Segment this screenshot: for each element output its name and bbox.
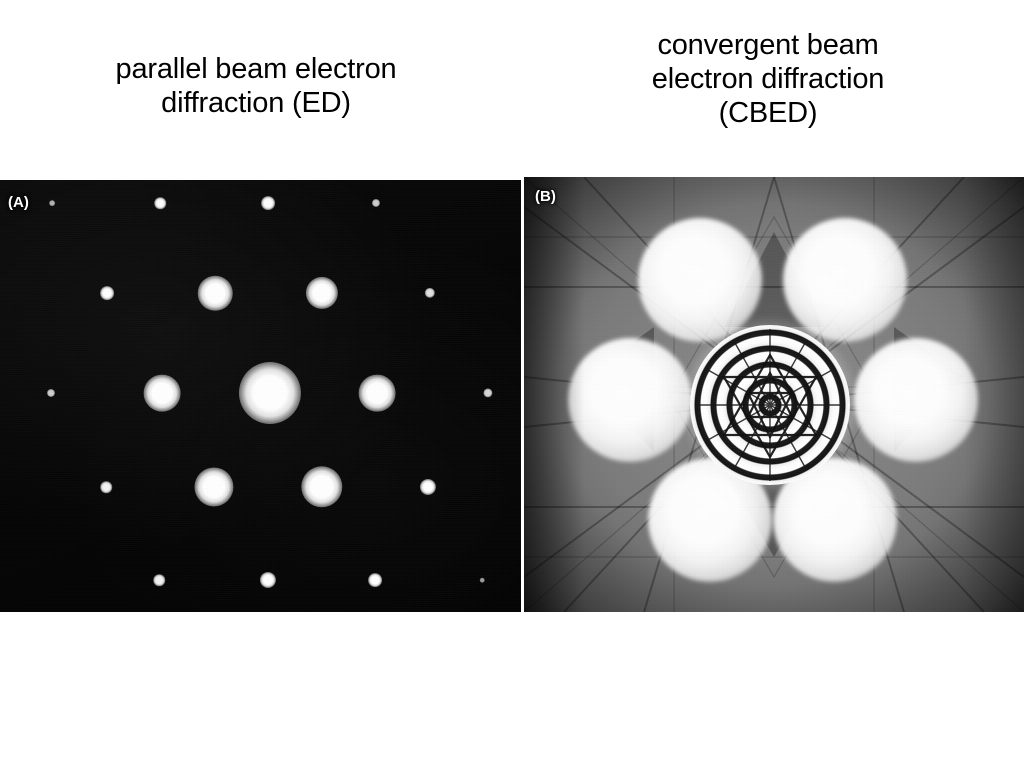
- panel-a-label: (A): [8, 194, 29, 211]
- panel-a-title: parallel beam electron diffraction (ED): [0, 52, 512, 120]
- panel-b-title-line-2: electron diffraction: [512, 62, 1024, 96]
- cbed-pattern-panel: (B): [524, 177, 1024, 612]
- ed-background: [0, 180, 521, 612]
- panel-b-title-line-1: convergent beam: [512, 28, 1024, 62]
- ed-pattern-panel: (A): [0, 180, 521, 612]
- panel-b-title: convergent beam electron diffraction (CB…: [512, 28, 1024, 131]
- panel-b-label: (B): [535, 188, 556, 205]
- panel-b-title-line-3: (CBED): [512, 96, 1024, 130]
- slide-root: parallel beam electron diffraction (ED) …: [0, 0, 1024, 768]
- panel-a-title-line-1: parallel beam electron: [0, 52, 512, 86]
- panel-a-title-line-2: diffraction (ED): [0, 86, 512, 120]
- cbed-vignette: [524, 177, 1024, 612]
